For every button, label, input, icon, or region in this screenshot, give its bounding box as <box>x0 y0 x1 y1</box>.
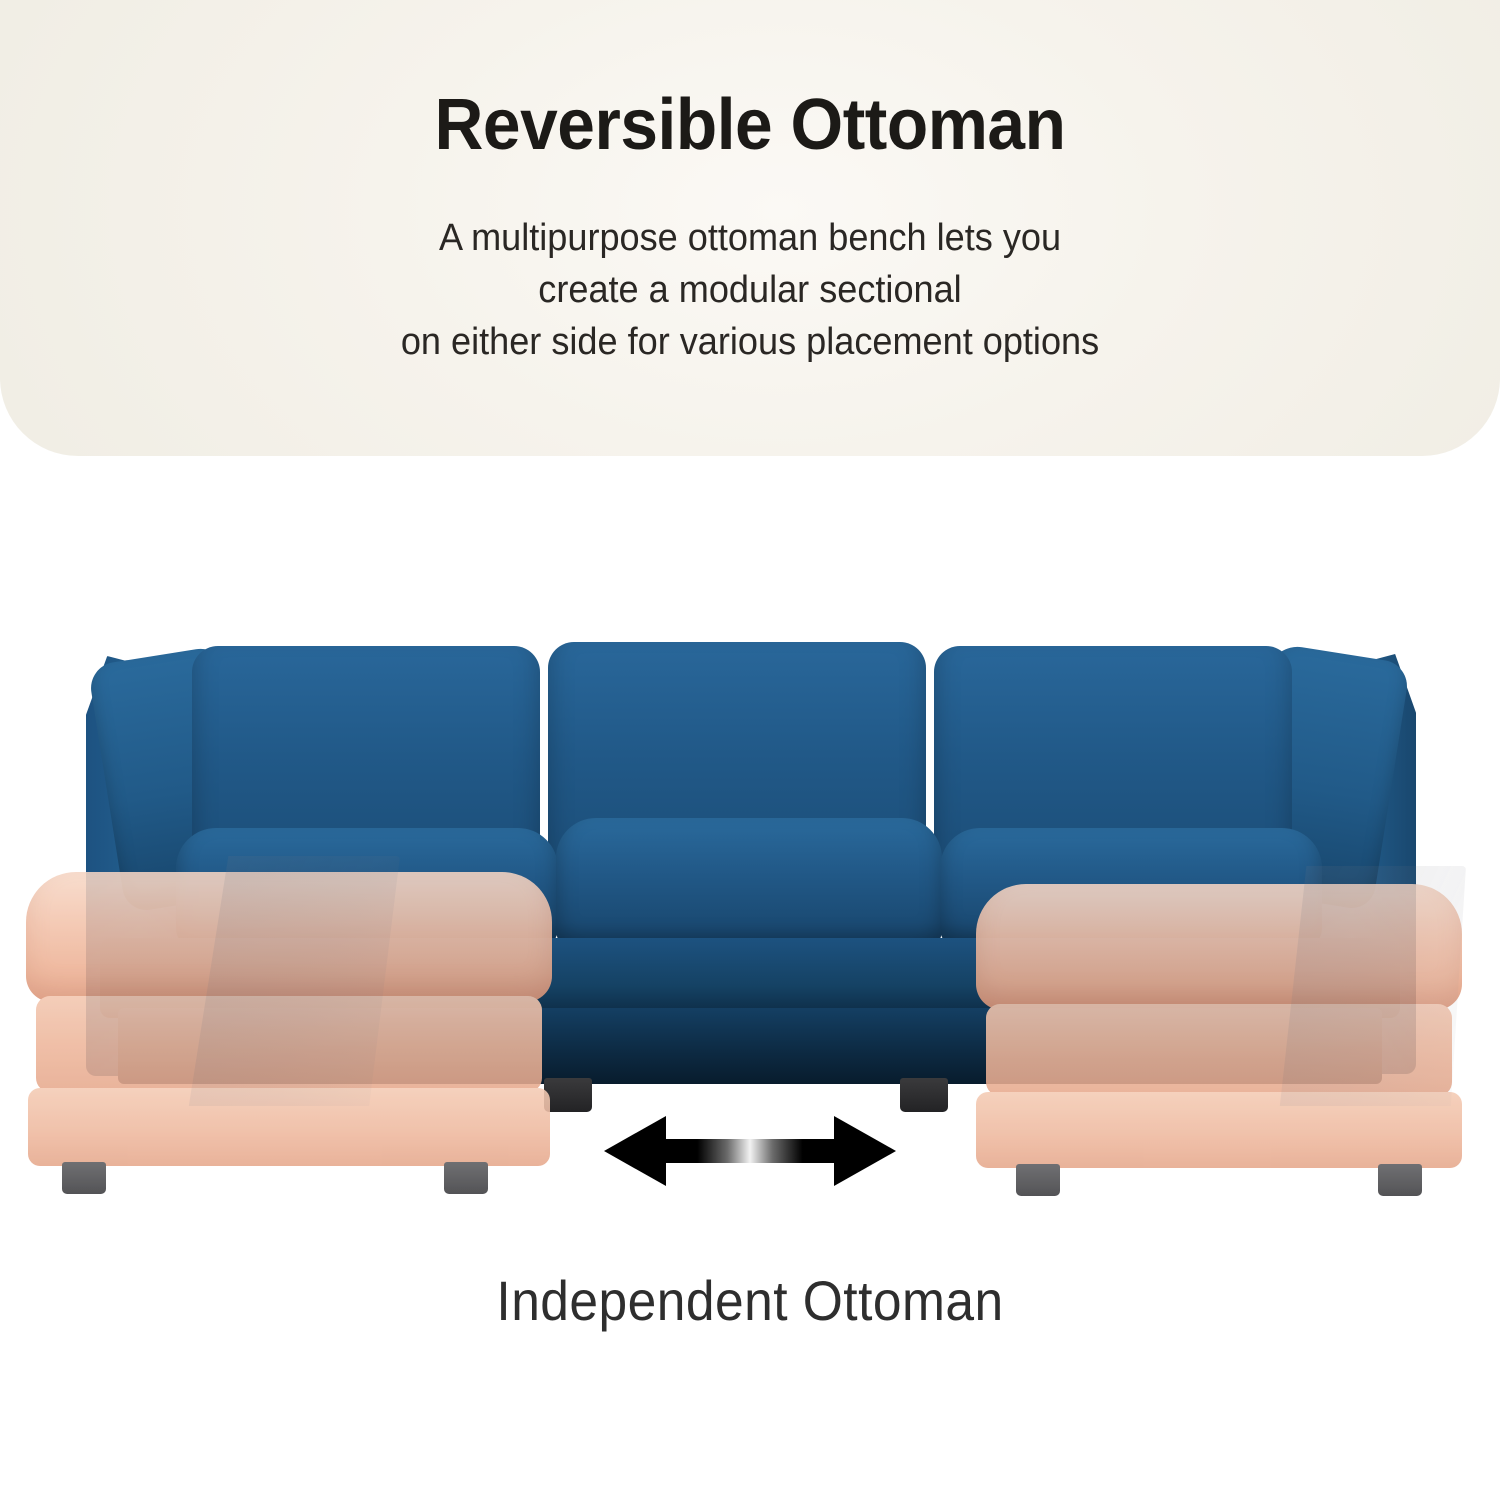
header-subtitle: A multipurpose ottoman bench lets you cr… <box>38 212 1463 368</box>
arrow-head-right-icon <box>834 1116 896 1186</box>
ottoman-right-foot-right <box>1378 1164 1422 1196</box>
subtitle-line-2: create a modular sectional <box>38 264 1463 316</box>
ottoman-left-foot-right <box>444 1162 488 1194</box>
product-marketing-image: Reversible Ottoman A multipurpose ottoma… <box>0 0 1500 1500</box>
seat-cushion-center <box>556 818 942 952</box>
double-arrow-icon <box>604 1112 896 1190</box>
sofa-foot-right <box>900 1078 948 1112</box>
arrow-shaft <box>656 1139 844 1163</box>
ottoman-right-transparency-overlay <box>1276 866 1466 1106</box>
subtitle-line-3: on either side for various placement opt… <box>38 316 1463 368</box>
ottoman-right <box>946 856 1486 1206</box>
header-panel: Reversible Ottoman A multipurpose ottoma… <box>0 0 1500 456</box>
ottoman-left-foot-left <box>62 1162 106 1194</box>
page-title: Reversible Ottoman <box>45 84 1455 166</box>
subtitle-line-1: A multipurpose ottoman bench lets you <box>38 212 1463 264</box>
ottoman-right-foot-left <box>1016 1164 1060 1196</box>
ottoman-left <box>14 856 574 1206</box>
product-caption: Independent Ottoman <box>60 1268 1440 1333</box>
